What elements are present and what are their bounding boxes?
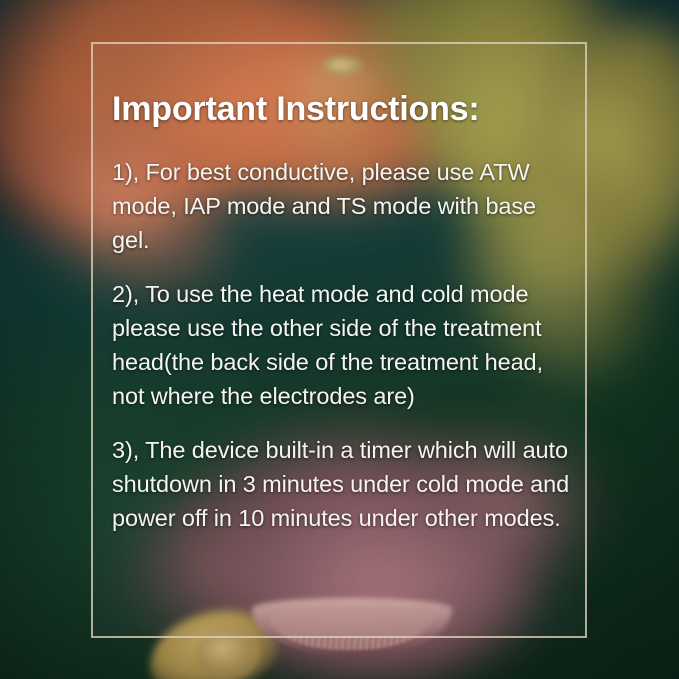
page-title: Important Instructions: bbox=[112, 90, 574, 129]
instructions-card: Important Instructions: 1), For best con… bbox=[0, 0, 679, 679]
instructions-content: Important Instructions: 1), For best con… bbox=[112, 90, 574, 535]
instruction-item-1: 1), For best conductive, please use ATW … bbox=[112, 155, 574, 257]
instruction-item-3: 3), The device built-in a timer which wi… bbox=[112, 433, 574, 535]
instruction-item-2: 2), To use the heat mode and cold mode p… bbox=[112, 277, 574, 413]
